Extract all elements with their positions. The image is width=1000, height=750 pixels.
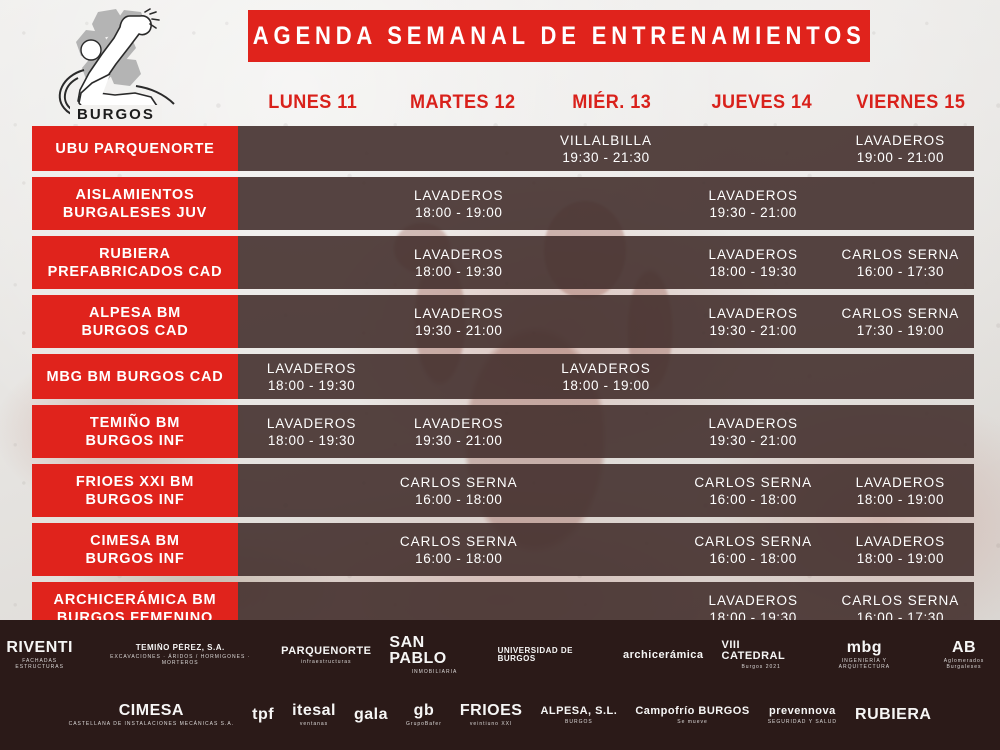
schedule-row-cells: LAVADEROS18:00 - 19:30LAVADEROS19:30 - 2… (238, 405, 974, 458)
session-time: 16:00 - 18:00 (710, 491, 797, 508)
sponsor-name: archicerámica (623, 650, 704, 661)
session-cell[interactable]: LAVADEROS18:00 - 19:00 (827, 523, 974, 576)
team-label-line1: ALPESA BM (89, 304, 181, 322)
sponsor-logo: Campofrío BURGOSSe mueve (635, 686, 749, 744)
session-time: 19:30 - 21:00 (710, 432, 797, 449)
session-venue: LAVADEROS (561, 360, 651, 377)
empty-cell (827, 405, 974, 458)
club-logo: BURGOS (40, 8, 190, 126)
empty-cell (238, 177, 385, 230)
sponsor-tagline: veintiuno XXI (470, 721, 512, 727)
schedule-row-cells: CARLOS SERNA16:00 - 18:00CARLOS SERNA16:… (238, 464, 974, 517)
sponsor-tagline: INGENIERÍA Y ARQUITECTURA (819, 658, 910, 670)
sponsor-tagline: infraestructuras (301, 659, 351, 665)
empty-cell (827, 177, 974, 230)
team-label[interactable]: CIMESA BMBURGOS INF (32, 523, 238, 576)
sponsor-name: prevennova (769, 706, 836, 717)
session-venue: LAVADEROS (267, 360, 357, 377)
session-venue: CARLOS SERNA (400, 474, 518, 491)
sponsor-row-1: RIVENTIFACHADAS ESTRUCTURASTEMIÑO PÉREZ,… (0, 626, 1000, 684)
sponsor-logo: prevennovaSEGURIDAD Y SALUD (768, 686, 837, 744)
session-venue: LAVADEROS (414, 305, 504, 322)
schedule-row: AISLAMIENTOSBURGALESES JUVLAVADEROS18:00… (32, 177, 974, 230)
sponsor-logo: VIII CATEDRALBurgos 2021 (722, 626, 801, 684)
session-cell[interactable]: CARLOS SERNA16:00 - 17:30 (827, 236, 974, 289)
session-venue: LAVADEROS (708, 415, 798, 432)
session-venue: CARLOS SERNA (842, 305, 960, 322)
session-time: 18:00 - 19:00 (415, 204, 502, 221)
session-venue: LAVADEROS (708, 246, 798, 263)
session-cell[interactable]: CARLOS SERNA16:00 - 18:00 (385, 464, 532, 517)
sponsor-name: RIVENTI (6, 640, 73, 656)
team-label[interactable]: FRIOES XXI BMBURGOS INF (32, 464, 238, 517)
logo-wordmark: BURGOS (70, 105, 162, 124)
session-time: 19:00 - 21:00 (857, 149, 944, 166)
session-venue: CARLOS SERNA (694, 533, 812, 550)
session-cell[interactable]: CARLOS SERNA17:30 - 19:00 (827, 295, 974, 348)
empty-cell (532, 464, 679, 517)
schedule-row-cells: CARLOS SERNA16:00 - 18:00CARLOS SERNA16:… (238, 523, 974, 576)
team-label-line2: BURGOS INF (85, 491, 184, 509)
sponsor-logo: ABAglomerados Burgaleses (928, 626, 1000, 684)
session-venue: LAVADEROS (708, 592, 798, 609)
sponsor-logo: SAN PABLOINMOBILIARIA (389, 626, 479, 684)
team-label[interactable]: UBU PARQUENORTE (32, 126, 238, 171)
session-time: 16:00 - 18:00 (415, 491, 502, 508)
session-cell[interactable]: LAVADEROS19:30 - 21:00 (680, 405, 827, 458)
team-label[interactable]: RUBIERAPREFABRICADOS CAD (32, 236, 238, 289)
sponsor-name: RUBIERA (855, 707, 931, 723)
session-venue: CARLOS SERNA (694, 474, 812, 491)
sponsor-name: itesal (292, 703, 336, 719)
team-label-line2: BURGOS INF (85, 432, 184, 450)
session-time: 16:00 - 17:30 (857, 263, 944, 280)
sponsor-row-2: CIMESACASTELLANA DE INSTALACIONES MECÁNI… (0, 686, 1000, 744)
session-venue: LAVADEROS (708, 187, 798, 204)
sponsor-logo: UNIVERSIDAD DE BURGOS (498, 626, 605, 684)
schedule-row: ALPESA BMBURGOS CADLAVADEROS19:30 - 21:0… (32, 295, 974, 348)
sponsor-name: tpf (252, 707, 274, 723)
sponsor-tagline: Se mueve (677, 719, 708, 725)
schedule-row-cells: LAVADEROS18:00 - 19:00LAVADEROS19:30 - 2… (238, 177, 974, 230)
session-cell[interactable]: LAVADEROS19:00 - 21:00 (827, 126, 974, 171)
sponsor-logo: TEMIÑO PÉREZ, S.A.EXCAVACIONES · ÁRIDOS … (97, 626, 263, 684)
sponsor-name: TEMIÑO PÉREZ, S.A. (136, 644, 225, 652)
team-label[interactable]: ALPESA BMBURGOS CAD (32, 295, 238, 348)
session-cell[interactable]: LAVADEROS18:00 - 19:00 (532, 354, 679, 399)
schedule-row: TEMIÑO BMBURGOS INFLAVADEROS18:00 - 19:3… (32, 405, 974, 458)
sponsor-name: PARQUENORTE (281, 646, 371, 657)
sponsor-logo: mbgINGENIERÍA Y ARQUITECTURA (819, 626, 910, 684)
sponsor-tagline: INMOBILIARIA (412, 669, 458, 675)
session-venue: LAVADEROS (414, 246, 504, 263)
team-label-line2: PREFABRICADOS CAD (48, 263, 223, 281)
session-time: 19:30 - 21:30 (562, 149, 649, 166)
session-cell[interactable]: LAVADEROS18:00 - 19:30 (680, 236, 827, 289)
day-header-martes: MARTES 12 (391, 92, 533, 118)
session-time: 16:00 - 18:00 (710, 550, 797, 567)
sponsor-tagline: CASTELLANA DE INSTALACIONES MECÁNICAS S.… (69, 721, 235, 727)
sponsor-tagline: Aglomerados Burgaleses (928, 658, 1000, 670)
session-cell[interactable]: LAVADEROS19:30 - 21:00 (680, 295, 827, 348)
session-cell[interactable]: LAVADEROS18:00 - 19:00 (385, 177, 532, 230)
sponsor-tagline: EXCAVACIONES · ÁRIDOS / HORMIGONES · MOR… (97, 654, 263, 666)
title-banner: AGENDA SEMANAL DE ENTRENAMIENTOS (248, 10, 870, 62)
day-header-row: LUNES 11 MARTES 12 MIÉR. 13 JUEVES 14 VI… (238, 92, 986, 118)
session-venue: LAVADEROS (414, 187, 504, 204)
team-label-line2: BURGOS CAD (81, 322, 188, 340)
sponsor-logo: archicerámica (623, 626, 704, 684)
schedule-row: FRIOES XXI BMBURGOS INFCARLOS SERNA16:00… (32, 464, 974, 517)
day-header-jueves: JUEVES 14 (691, 92, 833, 118)
session-cell[interactable]: LAVADEROS19:30 - 21:00 (385, 295, 532, 348)
team-label-line1: ARCHICERÁMICA BM (54, 591, 217, 609)
session-cell[interactable]: LAVADEROS19:30 - 21:00 (680, 177, 827, 230)
sponsor-name: UNIVERSIDAD DE BURGOS (498, 647, 605, 663)
session-time: 18:00 - 19:30 (710, 263, 797, 280)
session-cell[interactable]: LAVADEROS18:00 - 19:30 (238, 405, 385, 458)
schedule-row-cells: VILLALBILLA19:30 - 21:30LAVADEROS19:00 -… (238, 126, 974, 171)
sponsor-name: gb (414, 703, 435, 719)
team-label-line1: RUBIERA (99, 245, 171, 263)
session-time: 18:00 - 19:00 (562, 377, 649, 394)
team-label-line2: BURGOS INF (85, 550, 184, 568)
sponsor-name: Campofrío BURGOS (635, 706, 749, 717)
team-label-line1: FRIOES XXI BM (76, 473, 194, 491)
empty-cell (385, 126, 532, 171)
schedule-row-cells: LAVADEROS19:30 - 21:00LAVADEROS19:30 - 2… (238, 295, 974, 348)
sponsor-logo: gala (354, 686, 388, 744)
schedule-row: RUBIERAPREFABRICADOS CADLAVADEROS18:00 -… (32, 236, 974, 289)
page-header: BURGOS AGENDA SEMANAL DE ENTRENAMIENTOS … (0, 0, 1000, 126)
schedule-row-cells: LAVADEROS18:00 - 19:30LAVADEROS18:00 - 1… (238, 236, 974, 289)
empty-cell (385, 354, 532, 399)
sponsor-name: ALPESA, S.L. (540, 706, 617, 717)
sponsor-tagline: SEGURIDAD Y SALUD (768, 719, 837, 725)
session-venue: CARLOS SERNA (400, 533, 518, 550)
session-time: 18:00 - 19:00 (857, 550, 944, 567)
session-venue: VILLALBILLA (560, 132, 652, 149)
session-time: 16:00 - 18:00 (415, 550, 502, 567)
sponsor-logo: itesalventanas (292, 686, 336, 744)
sponsor-logo: PARQUENORTEinfraestructuras (281, 626, 371, 684)
sponsor-logo: gbGrupoBafer (406, 686, 442, 744)
team-label-line1: MBG BM BURGOS CAD (46, 368, 223, 386)
empty-cell (238, 464, 385, 517)
sponsor-tagline: BURGOS (565, 719, 593, 725)
session-time: 19:30 - 21:00 (415, 432, 502, 449)
session-cell[interactable]: LAVADEROS18:00 - 19:30 (238, 354, 385, 399)
sponsor-logo: RIVENTIFACHADAS ESTRUCTURAS (0, 626, 79, 684)
session-venue: CARLOS SERNA (842, 246, 960, 263)
team-label[interactable]: TEMIÑO BMBURGOS INF (32, 405, 238, 458)
session-venue: LAVADEROS (856, 533, 946, 550)
empty-cell (680, 126, 827, 171)
sponsor-tagline: ventanas (300, 721, 328, 727)
sponsor-tagline: FACHADAS ESTRUCTURAS (0, 658, 79, 670)
sponsor-logo: tpf (252, 686, 274, 744)
session-venue: LAVADEROS (414, 415, 504, 432)
sponsor-logo: ALPESA, S.L.BURGOS (540, 686, 617, 744)
session-venue: LAVADEROS (856, 474, 946, 491)
empty-cell (532, 177, 679, 230)
team-label-line1: CIMESA BM (90, 532, 180, 550)
sponsor-name: VIII CATEDRAL (722, 640, 801, 662)
session-cell[interactable]: CARLOS SERNA16:00 - 18:00 (680, 523, 827, 576)
sponsor-logo: FRIOESveintiuno XXI (460, 686, 523, 744)
empty-cell (238, 295, 385, 348)
page-title: AGENDA SEMANAL DE ENTRENAMIENTOS (253, 22, 866, 51)
session-cell[interactable]: LAVADEROS18:00 - 19:30 (385, 236, 532, 289)
team-label-line1: TEMIÑO BM (90, 414, 180, 432)
session-cell[interactable]: VILLALBILLA19:30 - 21:30 (532, 126, 679, 171)
schedule-grid: UBU PARQUENORTEVILLALBILLA19:30 - 21:30L… (32, 126, 974, 641)
team-label-line2: BURGALESES JUV (63, 204, 207, 222)
empty-cell (238, 523, 385, 576)
empty-cell (238, 126, 385, 171)
session-time: 18:00 - 19:30 (268, 432, 355, 449)
session-venue: LAVADEROS (267, 415, 357, 432)
empty-cell (532, 295, 679, 348)
session-time: 19:30 - 21:00 (710, 204, 797, 221)
session-cell[interactable]: LAVADEROS18:00 - 19:00 (827, 464, 974, 517)
sponsor-tagline: GrupoBafer (406, 721, 442, 727)
team-label[interactable]: MBG BM BURGOS CAD (32, 354, 238, 399)
sponsor-name: mbg (847, 640, 882, 656)
empty-cell (680, 354, 827, 399)
team-label[interactable]: AISLAMIENTOSBURGALESES JUV (32, 177, 238, 230)
sponsor-name: FRIOES (460, 703, 523, 719)
team-label-line1: AISLAMIENTOS (76, 186, 195, 204)
session-cell[interactable]: CARLOS SERNA16:00 - 18:00 (385, 523, 532, 576)
session-time: 18:00 - 19:00 (857, 491, 944, 508)
session-venue: LAVADEROS (708, 305, 798, 322)
sponsor-name: SAN PABLO (389, 635, 479, 667)
schedule-row: CIMESA BMBURGOS INFCARLOS SERNA16:00 - 1… (32, 523, 974, 576)
sponsor-tagline: Burgos 2021 (741, 664, 780, 670)
schedule-row: UBU PARQUENORTEVILLALBILLA19:30 - 21:30L… (32, 126, 974, 171)
session-venue: LAVADEROS (856, 132, 946, 149)
empty-cell (532, 236, 679, 289)
empty-cell (827, 354, 974, 399)
day-header-lunes: LUNES 11 (242, 92, 384, 118)
sponsor-name: CIMESA (119, 703, 184, 719)
session-time: 18:00 - 19:30 (268, 377, 355, 394)
session-time: 19:30 - 21:00 (415, 322, 502, 339)
session-cell[interactable]: LAVADEROS19:30 - 21:00 (385, 405, 532, 458)
team-label-line1: UBU PARQUENORTE (55, 140, 214, 158)
schedule-row-cells: LAVADEROS18:00 - 19:30LAVADEROS18:00 - 1… (238, 354, 974, 399)
sponsor-footer: RIVENTIFACHADAS ESTRUCTURASTEMIÑO PÉREZ,… (0, 620, 1000, 750)
session-time: 17:30 - 19:00 (857, 322, 944, 339)
session-cell[interactable]: CARLOS SERNA16:00 - 18:00 (680, 464, 827, 517)
schedule-row: MBG BM BURGOS CADLAVADEROS18:00 - 19:30L… (32, 354, 974, 399)
empty-cell (238, 236, 385, 289)
sponsor-name: gala (354, 707, 388, 723)
session-time: 19:30 - 21:00 (710, 322, 797, 339)
sponsor-logo: RUBIERA (855, 686, 931, 744)
day-header-viernes: VIERNES 15 (840, 92, 982, 118)
sponsor-logo: CIMESACASTELLANA DE INSTALACIONES MECÁNI… (69, 686, 235, 744)
session-time: 18:00 - 19:30 (415, 263, 502, 280)
empty-cell (532, 523, 679, 576)
session-venue: CARLOS SERNA (842, 592, 960, 609)
sponsor-name: AB (952, 640, 976, 656)
day-header-miercoles: MIÉR. 13 (541, 92, 683, 118)
empty-cell (532, 405, 679, 458)
